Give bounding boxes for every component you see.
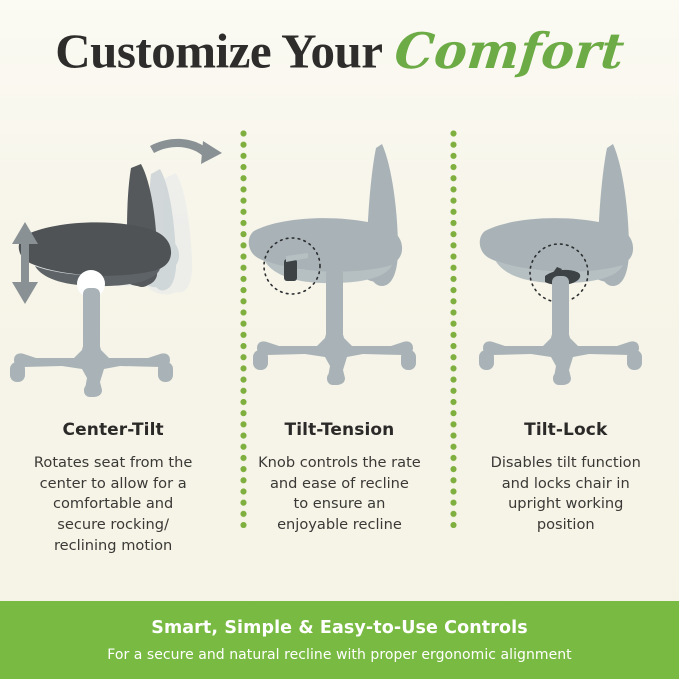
- tension-knob-icon: [284, 259, 297, 281]
- page-title: Customize YourComfort: [0, 22, 679, 80]
- feature-column-tilt-lock: Tilt-Lock Disables tilt function and loc…: [453, 126, 679, 566]
- infographic-page: Customize YourComfort: [0, 0, 679, 679]
- footer-banner: Smart, Simple & Easy-to-Use Controls For…: [0, 601, 679, 679]
- feature-description-center-tilt: Rotates seat from the center to allow fo…: [18, 453, 208, 557]
- chair-illustration-center-tilt: [0, 126, 226, 398]
- feature-title-tilt-lock: Tilt-Lock: [524, 420, 607, 440]
- feature-columns: Center-Tilt Rotates seat from the center…: [0, 126, 679, 566]
- page-title-script: Comfort: [391, 22, 626, 80]
- feature-description-tilt-lock: Disables tilt function and locks chair i…: [471, 453, 661, 536]
- rotate-arrow-icon: [150, 139, 222, 164]
- feature-column-tilt-tension: Tilt-Tension Knob controls the rate and …: [226, 126, 452, 566]
- chair-illustration-tilt-tension: [226, 126, 452, 398]
- feature-description-tilt-tension: Knob controls the rate and ease of recli…: [244, 453, 434, 536]
- footer-subtitle: For a secure and natural recline with pr…: [107, 647, 571, 663]
- page-title-main: Customize Your: [55, 24, 382, 79]
- footer-title: Smart, Simple & Easy-to-Use Controls: [151, 618, 528, 638]
- feature-column-center-tilt: Center-Tilt Rotates seat from the center…: [0, 126, 226, 566]
- chair-illustration-tilt-lock: [453, 126, 679, 398]
- feature-title-tilt-tension: Tilt-Tension: [285, 420, 395, 440]
- feature-title-center-tilt: Center-Tilt: [63, 420, 164, 440]
